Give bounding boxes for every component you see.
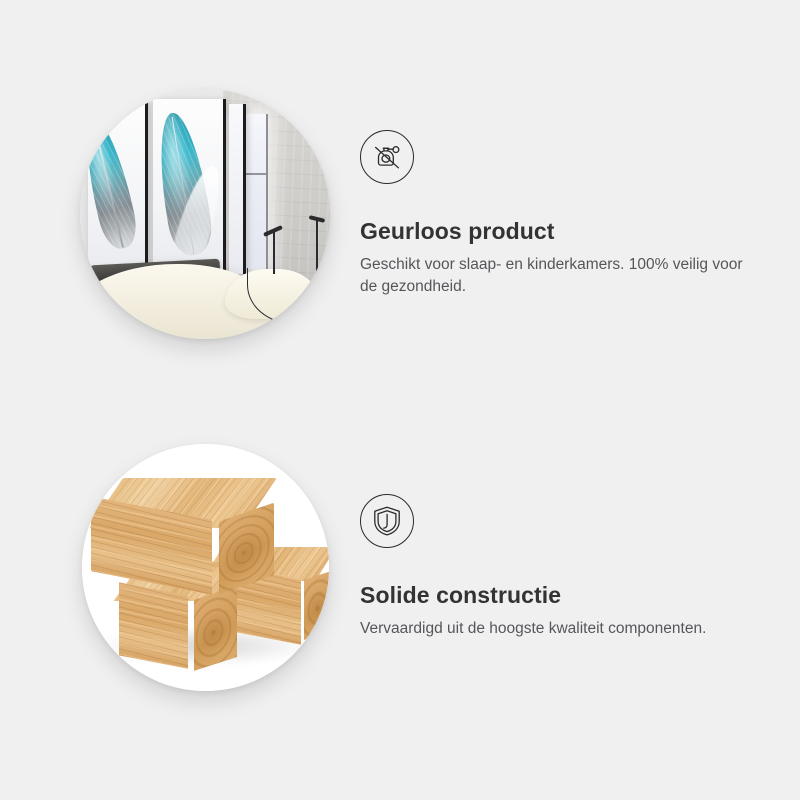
feature-description: Geschikt voor slaap- en kinderkamers. 10… (360, 254, 750, 298)
art-panel-left (88, 99, 149, 279)
no-fragrance-icon (360, 130, 414, 184)
wood-face-front (119, 582, 188, 668)
wooden-blocks-photo (82, 444, 329, 691)
wall-lamp-right (316, 219, 318, 284)
feature-text-0: Geurloos product Geschikt voor slaap- en… (355, 130, 800, 298)
feature-image-wrap-0 (55, 64, 355, 364)
wood-face-side (304, 571, 329, 641)
art-panel-center (153, 99, 226, 279)
feature-text-1: Solide constructie Vervaardigd uit de ho… (355, 494, 800, 640)
feather-graphic (88, 115, 142, 253)
wood-face-side (194, 586, 237, 671)
art-panel-right (229, 104, 246, 274)
wood-scene (82, 444, 329, 691)
shield-glyph (372, 505, 402, 537)
bedroom-feather-wall-art-photo (80, 89, 330, 339)
bedroom-scene (80, 89, 330, 339)
shield-icon (360, 494, 414, 548)
feature-title: Solide constructie (360, 582, 760, 609)
no-fragrance-glyph (370, 140, 404, 174)
feature-image-wrap-1 (55, 417, 355, 717)
feature-description: Vervaardigd uit de hoogste kwaliteit com… (360, 618, 750, 640)
product-feature-page: { "page": { "background_color": "#f0f0f0… (0, 0, 800, 800)
feature-block-geurloos-product: Geurloos product Geschikt voor slaap- en… (0, 44, 800, 384)
wood-block-main (91, 478, 274, 592)
feature-title: Geurloos product (360, 218, 760, 245)
feature-block-solide-constructie: Solide constructie Vervaardigd uit de ho… (0, 397, 800, 737)
